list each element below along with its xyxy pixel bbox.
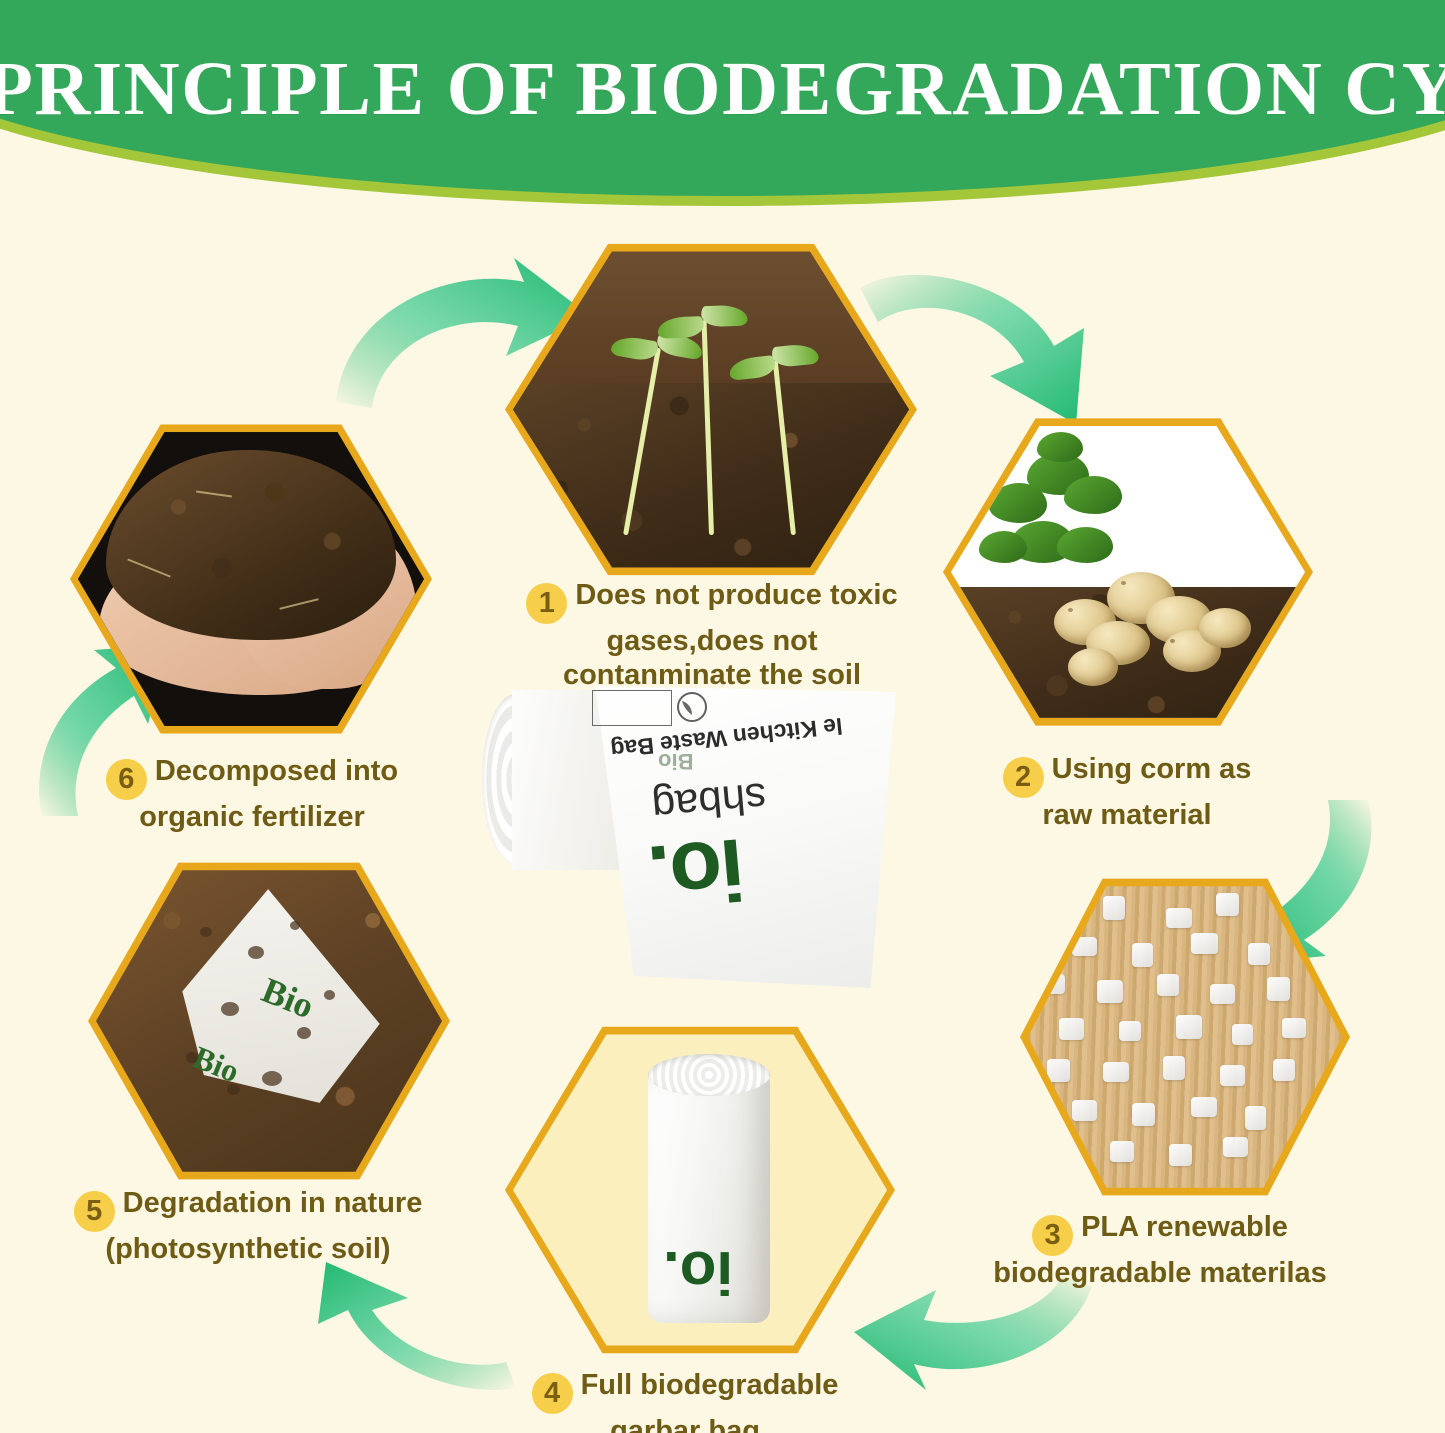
center-product-image: le Kitchen Waste Bag Bio shbag io. xyxy=(480,672,920,1012)
step-1-badge: 1 xyxy=(526,583,567,624)
step-4-line1: Full biodegradable xyxy=(581,1369,839,1401)
step-4-roll-print: io. xyxy=(663,1242,733,1302)
step-5-line2: (photosynthetic soil) xyxy=(105,1233,390,1265)
step-2-hexagon[interactable] xyxy=(943,412,1313,732)
step-3-line1: PLA renewable xyxy=(1081,1211,1288,1243)
step-4-image: io. xyxy=(513,1028,887,1352)
step-5-caption: 5Degradation in nature (photosynthetic s… xyxy=(28,1186,468,1266)
step-3-badge: 3 xyxy=(1032,1215,1073,1256)
step-3-line2: biodegradable materilas xyxy=(993,1257,1327,1289)
step-2-line2: raw material xyxy=(1042,799,1211,831)
infographic-canvas: PRINCIPLE OF BIODEGRADATION CYCLE xyxy=(0,0,1445,1433)
step-2-image xyxy=(951,420,1305,724)
compostable-logo-icon xyxy=(592,690,672,726)
step-4-badge: 4 xyxy=(532,1373,573,1414)
center-print-big-io: io. xyxy=(646,818,749,925)
step-5-hexagon[interactable]: Bio Bio xyxy=(88,856,450,1186)
seedling-logo-icon xyxy=(674,690,710,724)
header-banner: PRINCIPLE OF BIODEGRADATION CYCLE xyxy=(0,0,1445,215)
page-title: PRINCIPLE OF BIODEGRADATION CYCLE xyxy=(0,46,1445,133)
step-2-caption: 2Using corm as raw material xyxy=(962,752,1292,832)
step-5-badge: 5 xyxy=(74,1191,115,1232)
step-5-image: Bio Bio xyxy=(96,864,442,1178)
step-6-badge: 6 xyxy=(106,759,147,800)
step-2-badge: 2 xyxy=(1003,757,1044,798)
step-4-caption: 4Full biodegradable garbar bag xyxy=(470,1368,900,1433)
step-6-line1: Decomposed into xyxy=(155,755,398,787)
step-5-line1: Degradation in nature xyxy=(123,1187,423,1219)
step-6-line2: organic fertilizer xyxy=(139,801,365,833)
step-4-hexagon[interactable]: io. xyxy=(505,1020,895,1360)
center-print-brand-prefix: Bio xyxy=(658,748,693,774)
step-6-caption: 6Decomposed into organic fertilizer xyxy=(52,754,452,834)
step-1-line2: gases,does not xyxy=(606,625,817,657)
step-3-caption: 3PLA renewable biodegradable materilas xyxy=(950,1210,1370,1290)
step-2-line1: Using corm as xyxy=(1052,753,1252,785)
step-4-line2: garbar bag xyxy=(610,1415,760,1433)
step-1-line1: Does not produce toxic xyxy=(575,579,897,611)
